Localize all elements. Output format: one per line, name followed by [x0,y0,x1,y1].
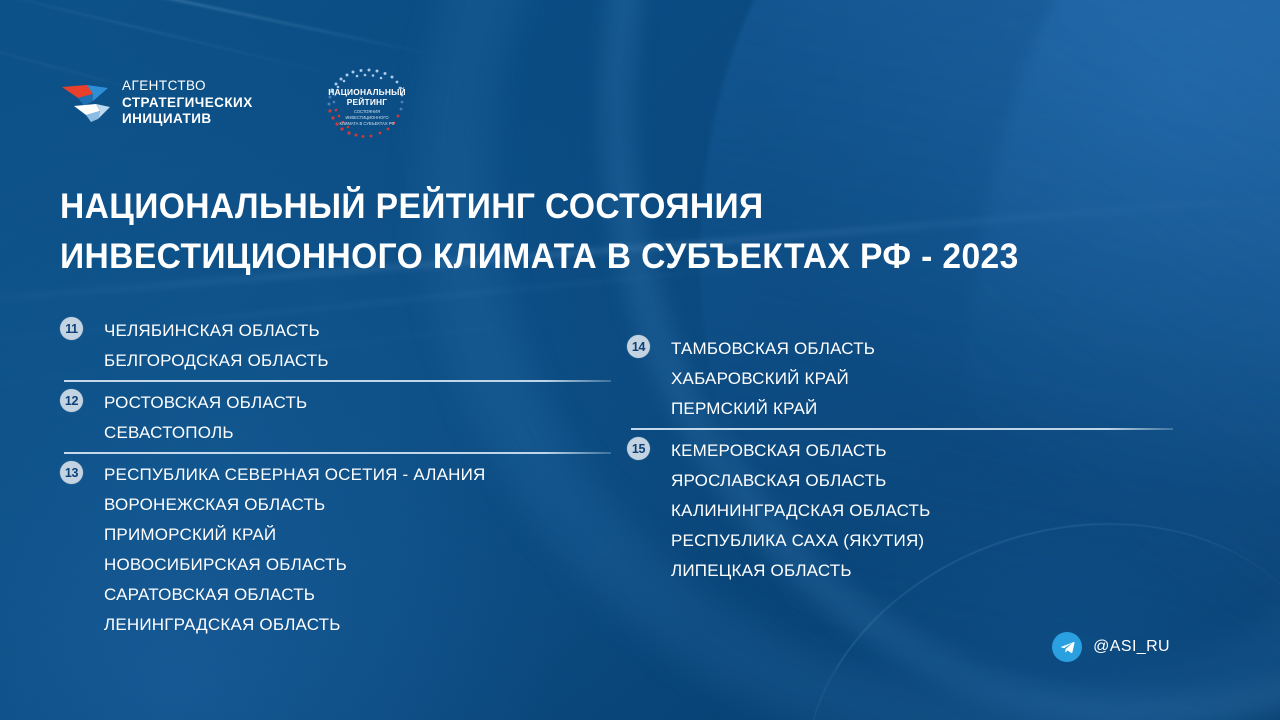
ranking-column-left: 11ЧЕЛЯБИНСКАЯ ОБЛАСТЬБЕЛГОРОДСКАЯ ОБЛАСТ… [60,316,625,640]
asi-arrow-icon [60,79,112,127]
page-title-line2: ИНВЕСТИЦИОННОГО КЛИМАТА В СУБЪЕКТАХ РФ -… [60,232,1154,282]
telegram-badge[interactable]: @ASI_RU [1052,632,1170,662]
svg-text:РЕЙТИНГ: РЕЙТИНГ [346,96,387,107]
rank-group: 11ЧЕЛЯБИНСКАЯ ОБЛАСТЬБЕЛГОРОДСКАЯ ОБЛАСТ… [60,316,625,376]
svg-text:НАЦИОНАЛЬНЫЙ: НАЦИОНАЛЬНЫЙ [328,86,406,97]
region-name: ЛИПЕЦКАЯ ОБЛАСТЬ [671,556,1187,586]
region-name: ЛЕНИНГРАДСКАЯ ОБЛАСТЬ [104,610,625,640]
region-name: САРАТОВСКАЯ ОБЛАСТЬ [104,580,625,610]
region-name: КАЛИНИНГРАДСКАЯ ОБЛАСТЬ [671,496,1187,526]
page-title: НАЦИОНАЛЬНЫЙ РЕЙТИНГ СОСТОЯНИЯ ИНВЕСТИЦИ… [60,182,1154,282]
svg-text:КЛИМАТА В СУБЪЕКТАХ РФ: КЛИМАТА В СУБЪЕКТАХ РФ [339,121,394,126]
region-name: ТАМБОВСКАЯ ОБЛАСТЬ [671,334,1187,364]
region-name: НОВОСИБИРСКАЯ ОБЛАСТЬ [104,550,625,580]
logo-row: АГЕНТСТВО СТРАТЕГИЧЕСКИХ ИНИЦИАТИВ [60,66,423,140]
asi-logo: АГЕНТСТВО СТРАТЕГИЧЕСКИХ ИНИЦИАТИВ [60,78,253,127]
region-name: ПЕРМСКИЙ КРАЙ [671,394,1187,424]
rank-badge: 11 [60,317,83,340]
region-name: БЕЛГОРОДСКАЯ ОБЛАСТЬ [104,346,625,376]
ranking-columns: 11ЧЕЛЯБИНСКАЯ ОБЛАСТЬБЕЛГОРОДСКАЯ ОБЛАСТ… [0,316,1280,640]
rank-badge: 14 [627,335,650,358]
region-name: ВОРОНЕЖСКАЯ ОБЛАСТЬ [104,490,625,520]
rank-group: 13РЕСПУБЛИКА СЕВЕРНАЯ ОСЕТИЯ - АЛАНИЯВОР… [60,460,625,640]
background-streak-1 [0,0,435,56]
region-name: КЕМЕРОВСКАЯ ОБЛАСТЬ [671,436,1187,466]
svg-text:ИНВЕСТИЦИОННОГО: ИНВЕСТИЦИОННОГО [345,115,388,120]
region-name: РЕСПУБЛИКА САХА (ЯКУТИЯ) [671,526,1187,556]
region-name: РОСТОВСКАЯ ОБЛАСТЬ [104,388,625,418]
rank-group: 14ТАМБОВСКАЯ ОБЛАСТЬХАБАРОВСКИЙ КРАЙПЕРМ… [627,334,1187,424]
telegram-handle: @ASI_RU [1093,638,1170,656]
region-name: СЕВАСТОПОЛЬ [104,418,625,448]
telegram-plane-icon [1059,639,1076,656]
asi-logo-line1: АГЕНТСТВО [122,78,253,94]
asi-logo-text: АГЕНТСТВО СТРАТЕГИЧЕСКИХ ИНИЦИАТИВ [122,78,253,127]
rank-badge: 12 [60,389,83,412]
national-rating-logo-icon: НАЦИОНАЛЬНЫЙ РЕЙТИНГ СОСТОЯНИЯ ИНВЕСТИЦИ… [311,66,423,140]
region-name: ЯРОСЛАВСКАЯ ОБЛАСТЬ [671,466,1187,496]
slide-root: АГЕНТСТВО СТРАТЕГИЧЕСКИХ ИНИЦИАТИВ [0,0,1280,720]
region-name: РЕСПУБЛИКА СЕВЕРНАЯ ОСЕТИЯ - АЛАНИЯ [104,460,625,490]
asi-logo-line3: ИНИЦИАТИВ [122,111,253,127]
rank-badge: 13 [60,461,83,484]
rank-group: 15КЕМЕРОВСКАЯ ОБЛАСТЬЯРОСЛАВСКАЯ ОБЛАСТЬ… [627,436,1187,586]
region-name: ЧЕЛЯБИНСКАЯ ОБЛАСТЬ [104,316,625,346]
page-title-line1: НАЦИОНАЛЬНЫЙ РЕЙТИНГ СОСТОЯНИЯ [60,182,1154,232]
ranking-column-right: 14ТАМБОВСКАЯ ОБЛАСТЬХАБАРОВСКИЙ КРАЙПЕРМ… [627,334,1187,640]
asi-logo-line2: СТРАТЕГИЧЕСКИХ [122,95,253,111]
rank-badge: 15 [627,437,650,460]
telegram-icon[interactable] [1052,632,1082,662]
svg-text:СОСТОЯНИЯ: СОСТОЯНИЯ [354,109,380,114]
rank-group: 12РОСТОВСКАЯ ОБЛАСТЬСЕВАСТОПОЛЬ [60,388,625,448]
region-name: ПРИМОРСКИЙ КРАЙ [104,520,625,550]
region-name: ХАБАРОВСКИЙ КРАЙ [671,364,1187,394]
